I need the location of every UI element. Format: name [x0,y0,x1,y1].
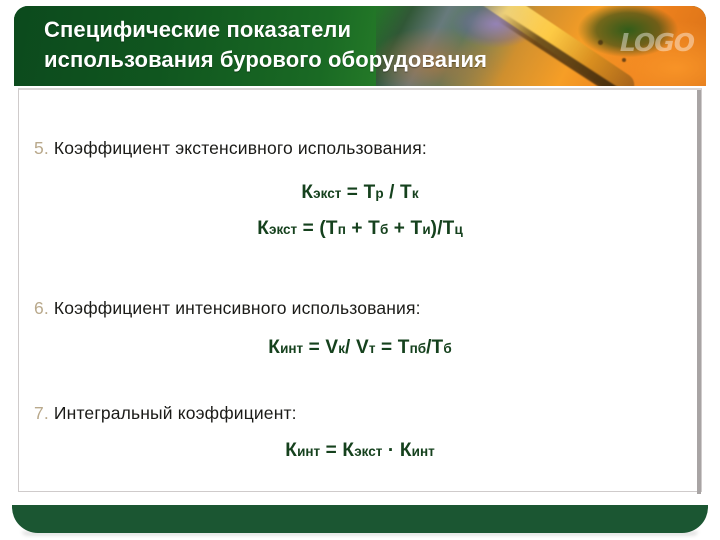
slide-header: Специфические показатели использования б… [14,6,706,86]
list-item-number-5: 5. [34,138,49,158]
footer-bar [12,505,708,533]
page-title-line-1: Специфические показатели [44,15,604,45]
slide: Специфические показатели использования б… [0,0,720,540]
logo: LOGO [620,28,694,57]
formula-5-2: Кэкст = (Тп + Тб + Ти)/Тц [18,218,720,240]
formula-7-1: Кинт = Кэкст · Кинт [18,440,720,462]
list-item-label-6: Коэффициент интенсивного использования: [54,298,421,318]
formula-5-1: Кэкст = Тр / Тк [18,182,720,204]
list-item-label-7: Интегральный коэффициент: [54,403,297,423]
list-item-number-6: 6. [34,298,49,318]
list-item-heading-5: 5. Коэффициент экстенсивного использован… [18,138,718,159]
content-body: 5. Коэффициент экстенсивного использован… [18,88,702,492]
list-item-heading-6: 6. Коэффициент интенсивного использовани… [18,298,718,319]
drill-bit-hole-icon [622,58,626,62]
page-title-line-2: использования бурового оборудования [44,45,604,75]
list-item-heading-7: 7. Интегральный коэффициент: [18,403,718,424]
formula-6-1: Кинт = Vк/ Vт = Тпб/Тб [18,337,720,359]
page-title: Специфические показатели использования б… [44,15,604,75]
list-item-number-7: 7. [34,403,49,423]
list-item-label-5: Коэффициент экстенсивного использования: [54,138,427,158]
